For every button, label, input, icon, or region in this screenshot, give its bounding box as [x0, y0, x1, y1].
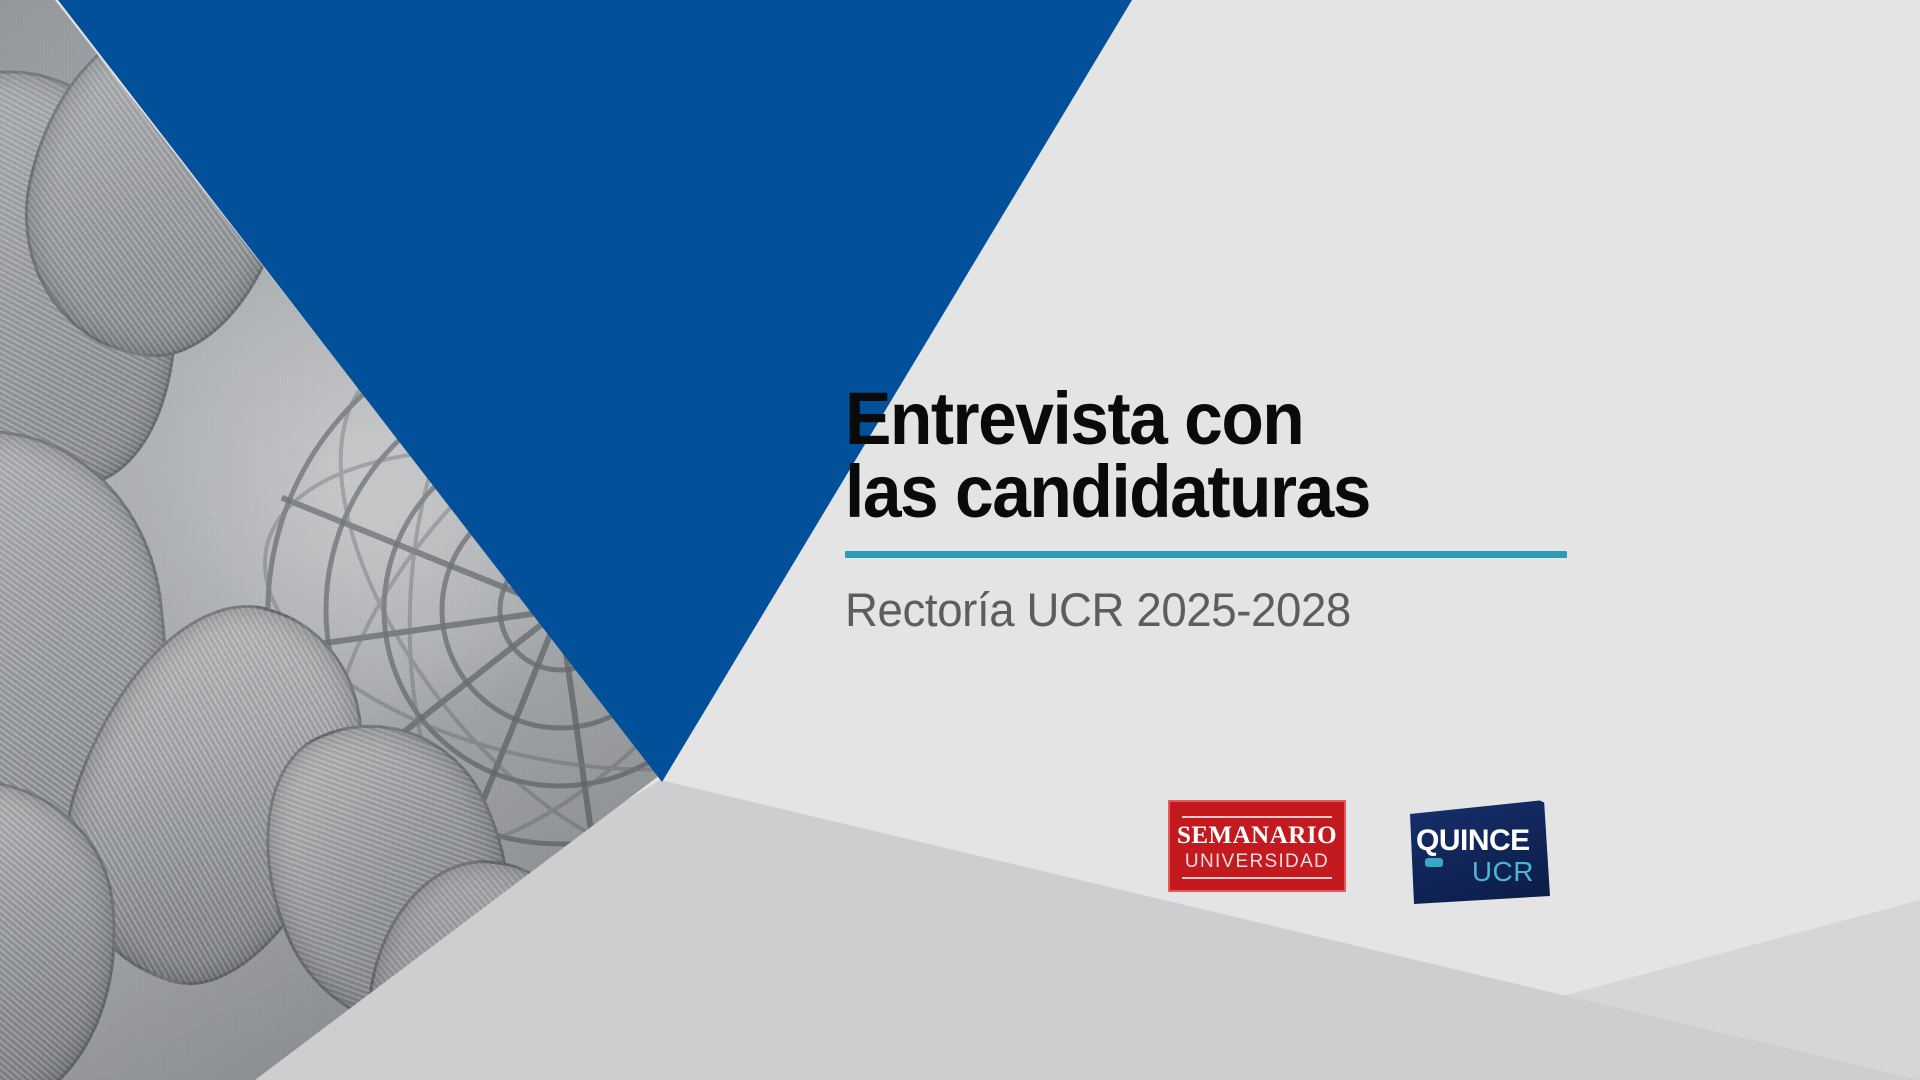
quince-dot-icon	[1425, 858, 1443, 867]
title-block: Entrevista con las candidaturas Rectoría…	[845, 382, 1565, 637]
semanario-universidad-logo: SEMANARIO UNIVERSIDAD	[1168, 800, 1346, 892]
accent-rule	[845, 551, 1567, 558]
title-line-1: Entrevista con	[845, 382, 1522, 455]
title-card: Entrevista con las candidaturas Rectoría…	[0, 0, 1920, 1080]
quince-wordmark: Quince	[1416, 826, 1530, 856]
quince-ucr-logo: Quince UCR	[1404, 800, 1550, 904]
semanario-rule-bottom	[1182, 877, 1332, 879]
universidad-wordmark: UNIVERSIDAD	[1185, 852, 1329, 871]
content-column: Entrevista con las candidaturas Rectoría…	[845, 0, 1745, 1080]
semanario-rule-top	[1182, 816, 1332, 818]
ucr-wordmark: UCR	[1472, 858, 1534, 886]
logo-row: SEMANARIO UNIVERSIDAD Quince UCR	[1168, 800, 1550, 904]
subtitle: Rectoría UCR 2025-2028	[845, 582, 1543, 637]
semanario-wordmark: SEMANARIO	[1177, 823, 1337, 848]
title-line-2: las candidaturas	[845, 455, 1522, 528]
